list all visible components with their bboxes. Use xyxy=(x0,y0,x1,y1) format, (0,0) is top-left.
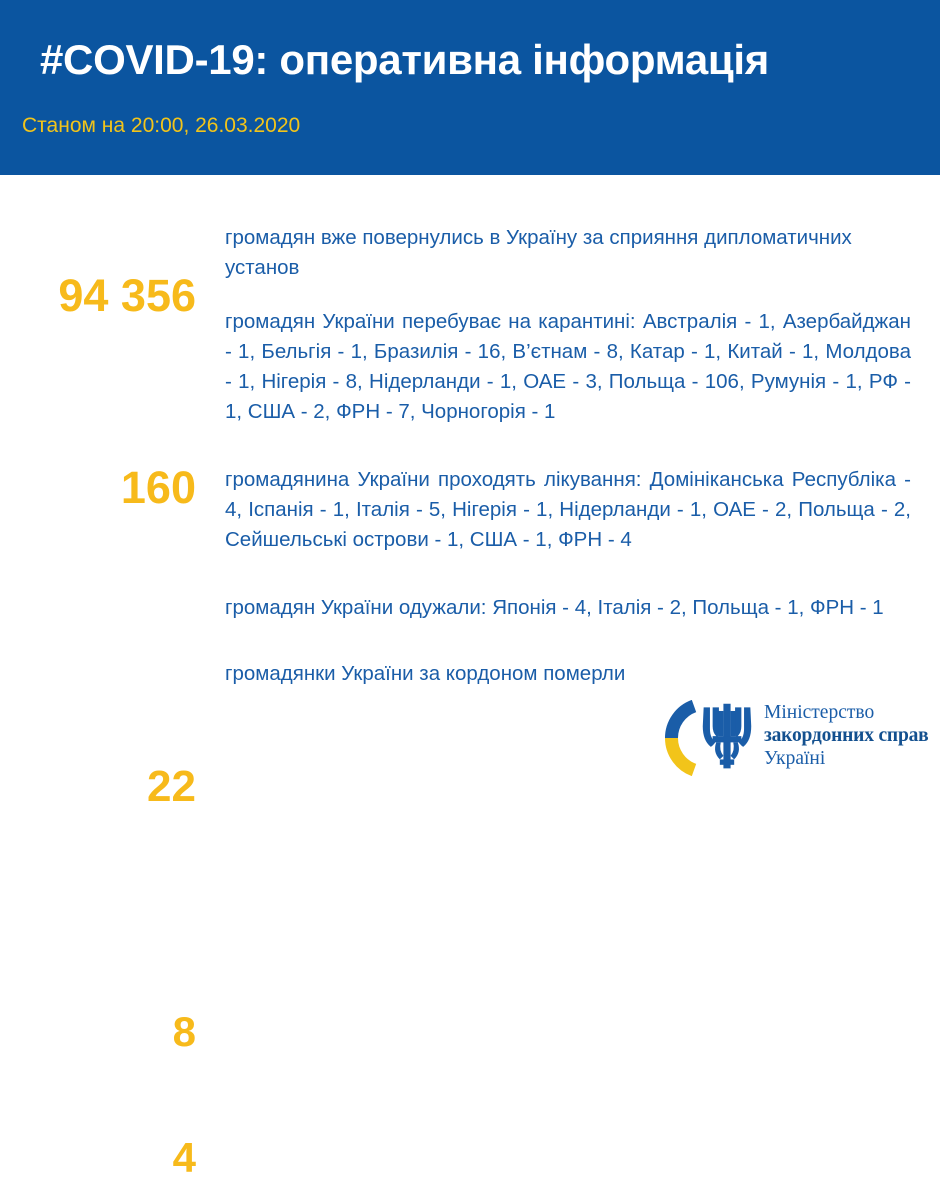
stat-text-returned: громадян вже повернулись в Україну за сп… xyxy=(225,223,911,283)
stat-number-quarantine: 160 xyxy=(0,465,196,510)
page-title: #COVID-19: оперативна інформація xyxy=(40,36,769,84)
logo-line-ministry: Міністерство xyxy=(764,701,934,724)
stat-text-quarantine: громадян України перебуває на карантині:… xyxy=(225,307,911,427)
stat-number-died: 4 xyxy=(0,1137,196,1179)
logo-line-foreign-affairs: закордонних справ xyxy=(764,724,934,747)
crescent-arc-icon xyxy=(652,700,698,776)
stat-number-recovered: 8 xyxy=(0,1011,196,1053)
logo-line-ukraine: Україні xyxy=(764,747,934,770)
stat-text-recovered: громадян України одужали: Японія - 4, Іт… xyxy=(225,593,911,623)
header-timestamp: Станом на 20:00, 26.03.2020 xyxy=(22,114,300,138)
stat-number-treatment: 22 xyxy=(0,765,196,809)
mfa-logo: Міністерство закордонних справ Україні xyxy=(652,698,932,778)
stat-number-returned: 94 356 xyxy=(0,273,196,318)
stat-text-died: громадянки України за кордоном померли xyxy=(225,659,911,689)
ukraine-trident-icon xyxy=(700,702,754,772)
logo-text-block: Міністерство закордонних справ Україні xyxy=(764,701,934,770)
header-banner: #COVID-19: оперативна інформація Станом … xyxy=(0,0,940,175)
stat-text-treatment: громадянина України проходять лікування:… xyxy=(225,465,911,555)
